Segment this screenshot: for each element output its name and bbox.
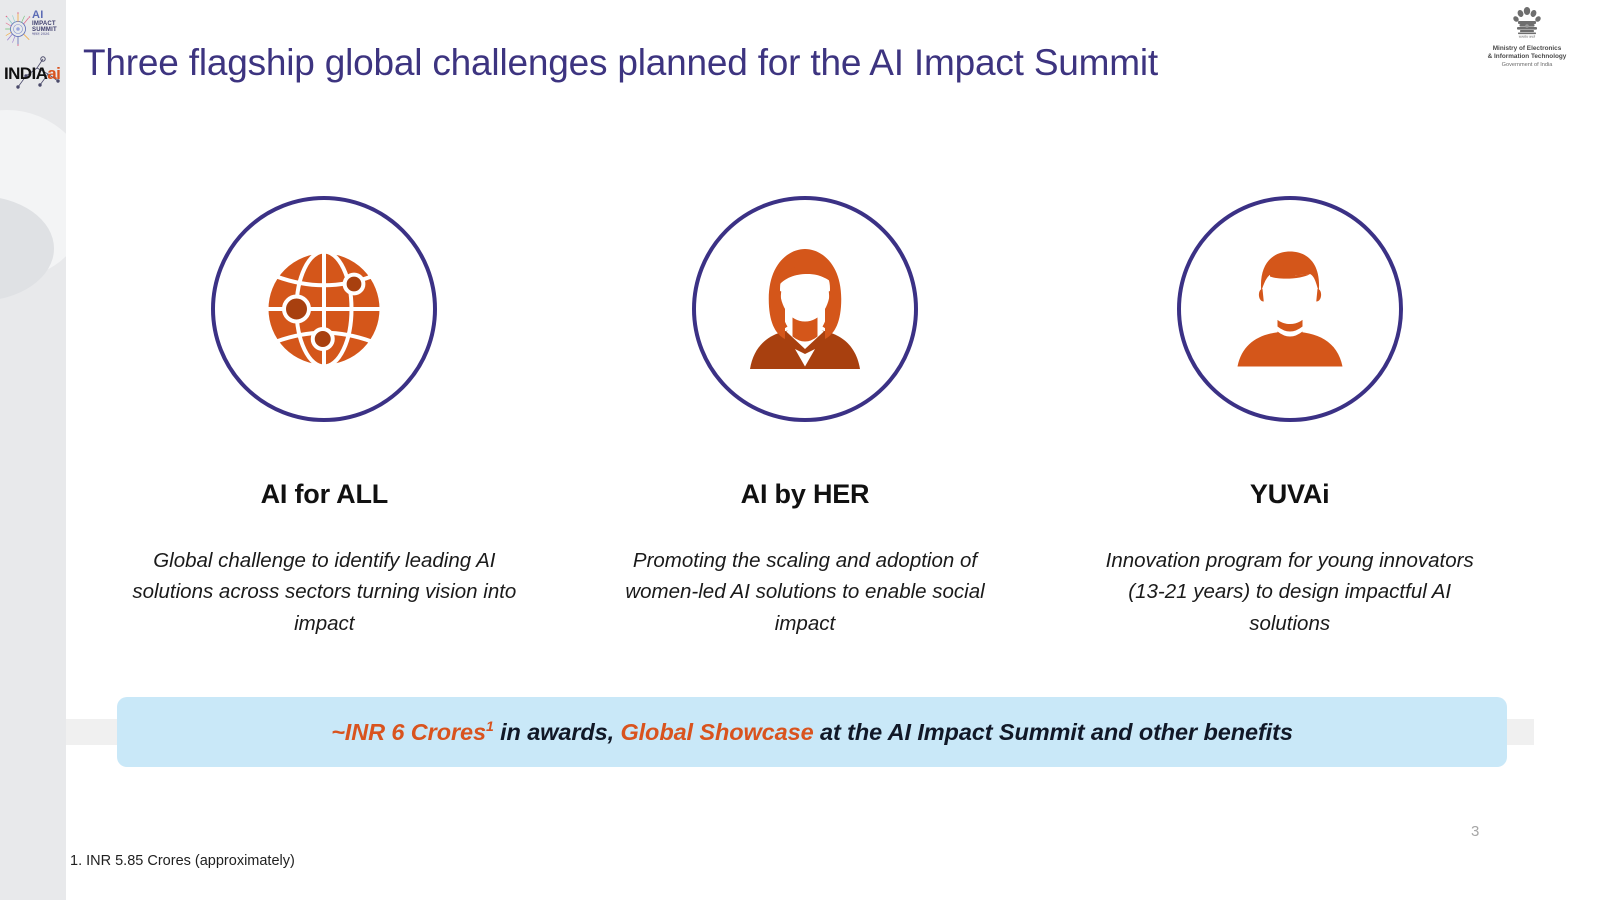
- summit-logo-text: AI IMPACT SUMMIT भारत 2026: [32, 10, 57, 37]
- logo-block: AI IMPACT SUMMIT भारत 2026: [4, 4, 66, 96]
- awards-highlight-banner: ~INR 6 Crores1 in awards, Global Showcas…: [117, 697, 1507, 767]
- summit-logo-line4: भारत 2026: [32, 33, 57, 37]
- woman-avatar-icon: [730, 234, 880, 384]
- global-showcase-label: Global Showcase: [620, 719, 813, 745]
- globe-network-icon: [249, 234, 399, 384]
- challenge-heading-ai-for-all: AI for ALL: [261, 479, 388, 510]
- ashoka-emblem-icon: सत्यमेव जयते: [1511, 4, 1543, 44]
- ai-impact-summit-logo: AI IMPACT SUMMIT भारत 2026: [4, 4, 66, 52]
- indiaai-wordmark: INDIAai: [4, 64, 60, 84]
- challenges-columns: AI for ALL Global challenge to identify …: [83, 196, 1533, 656]
- youth-avatar-icon: [1215, 234, 1365, 384]
- awards-highlight-text: ~INR 6 Crores1 in awards, Global Showcas…: [331, 718, 1293, 746]
- indiaai-logo: INDIAai: [4, 54, 66, 94]
- ministry-line3: Government of India: [1466, 62, 1588, 69]
- ministry-line1: Ministry of Electronics: [1466, 45, 1588, 53]
- challenge-description-ai-for-all: Global challenge to identify leading AI …: [119, 545, 529, 639]
- left-decorative-band: [0, 0, 66, 900]
- awards-text-mid: in awards,: [494, 719, 621, 745]
- challenge-description-ai-by-her: Promoting the scaling and adoption of wo…: [595, 545, 1015, 639]
- challenge-card-ai-for-all: AI for ALL Global challenge to identify …: [81, 196, 568, 656]
- challenge-card-ai-by-her: AI by HER Promoting the scaling and adop…: [562, 196, 1049, 656]
- page-number: 3: [1471, 823, 1479, 840]
- slide-canvas: AI IMPACT SUMMIT भारत 2026: [0, 0, 1600, 900]
- challenge-card-yuvai: YUVAi Innovation program for young innov…: [1046, 196, 1533, 656]
- icon-circle-yuvai: [1177, 196, 1403, 422]
- ministry-logo: सत्यमेव जयते Ministry of Electronics & I…: [1466, 4, 1588, 69]
- ministry-line2: & Information Technology: [1466, 53, 1588, 61]
- summit-burst-icon: [5, 8, 31, 48]
- awards-footnote-marker: 1: [486, 718, 494, 734]
- icon-circle-ai-by-her: [692, 196, 918, 422]
- challenge-description-yuvai: Innovation program for young innovators …: [1100, 545, 1480, 639]
- challenge-heading-ai-by-her: AI by HER: [741, 479, 870, 510]
- svg-text:सत्यमेव जयते: सत्यमेव जयते: [1519, 34, 1535, 39]
- summit-logo-line1: AI: [32, 10, 57, 21]
- icon-circle-ai-for-all: [211, 196, 437, 422]
- page-title: Three flagship global challenges planned…: [83, 42, 1383, 84]
- indiaai-wordmark-ai: ai: [47, 64, 60, 83]
- footnote: 1. INR 5.85 Crores (approximately): [70, 853, 295, 869]
- awards-amount: ~INR 6 Crores: [331, 719, 486, 745]
- challenge-heading-yuvai: YUVAi: [1250, 479, 1330, 510]
- awards-text-end: at the AI Impact Summit and other benefi…: [814, 719, 1293, 745]
- indiaai-wordmark-india: INDIA: [4, 64, 47, 83]
